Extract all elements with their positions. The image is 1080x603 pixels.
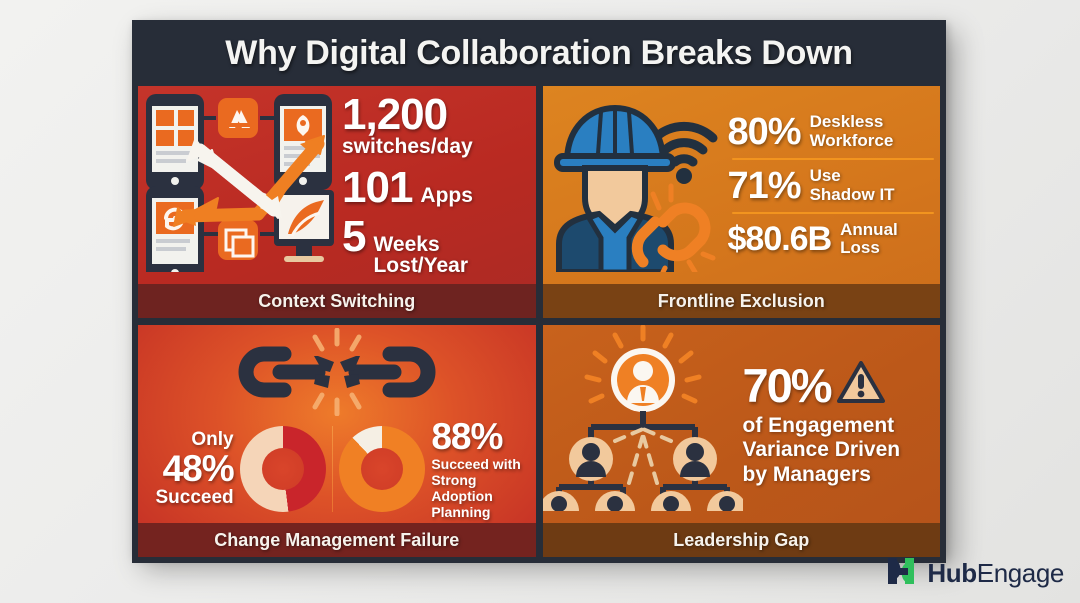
quadrant-body: 80% Deskless Workforce 71% Use Shadow IT… <box>543 86 941 284</box>
donut-prefix: Only <box>138 430 234 450</box>
succeed-donut <box>240 426 326 512</box>
caption-leadership-gap: Leadership Gap <box>543 523 941 557</box>
stat-value-deskless: 80% <box>728 113 801 151</box>
stat-value-switches: 1,200 <box>342 93 536 136</box>
donut-row: Only 48% Succeed 88% Succeed with Strong… <box>138 418 536 520</box>
broken-chain-icon <box>222 328 452 416</box>
page-title: Why Digital Collaboration Breaks Down <box>225 34 852 73</box>
stat-value-weeks: 5 <box>342 215 365 258</box>
brand-logo: HubEngage <box>884 554 1064 593</box>
warning-triangle-icon <box>837 361 885 410</box>
quadrant-body: Only 48% Succeed 88% Succeed with Strong… <box>138 325 536 523</box>
stat-row-shadow-it: 71% Use Shadow IT <box>728 167 935 205</box>
context-switching-stats: 1,200 switches/day 101 Apps 5 Weeks Lost… <box>338 93 536 276</box>
quadrant-context-switching: 1,200 switches/day 101 Apps 5 Weeks Lost… <box>138 86 536 318</box>
quadrant-leadership-gap: 70% of Engagement Variance Driven by Man… <box>543 325 941 557</box>
infographic-card: Why Digital Collaboration Breaks Down <box>132 20 946 557</box>
quadrant-frontline-exclusion: 80% Deskless Workforce 71% Use Shadow IT… <box>543 86 941 318</box>
stat-description-engagement-variance: of Engagement Variance Driven by Manager… <box>743 414 931 488</box>
brand-name: HubEngage <box>927 558 1064 589</box>
card-header: Why Digital Collaboration Breaks Down <box>132 20 946 86</box>
donut-divider <box>332 426 334 512</box>
stat-label-weeks: Weeks Lost/Year <box>373 234 468 277</box>
donut-value-48: 48% <box>138 450 234 488</box>
stat-value-shadow-it: 71% <box>728 167 801 205</box>
strong-adoption-donut <box>339 426 425 512</box>
caption-context-switching: Context Switching <box>138 284 536 318</box>
quadrant-body: 1,200 switches/day 101 Apps 5 Weeks Lost… <box>138 86 536 284</box>
strong-adoption-donut-label: 88% Succeed with Strong Adoption Plannin… <box>431 418 535 520</box>
donut-suffix: Succeed with Strong Adoption Planning <box>431 456 535 520</box>
succeed-donut-label: Only 48% Succeed <box>138 430 234 508</box>
leadership-stats: 70% of Engagement Variance Driven by Man… <box>743 361 941 488</box>
stat-value-annual-loss: $80.6B <box>728 222 832 256</box>
stat-value-apps: 101 <box>342 166 412 209</box>
donut-value-88: 88% <box>431 418 535 456</box>
stat-divider <box>732 158 935 160</box>
caption-frontline-exclusion: Frontline Exclusion <box>543 284 941 318</box>
stat-row-annual-loss: $80.6B Annual Loss <box>728 221 935 258</box>
hubengage-h-logo-icon <box>884 554 918 593</box>
caption-change-management-failure: Change Management Failure <box>138 523 536 557</box>
stat-label-annual-loss: Annual Loss <box>840 221 898 258</box>
frontline-stats: 80% Deskless Workforce 71% Use Shadow IT… <box>728 113 941 258</box>
quadrant-body: 70% of Engagement Variance Driven by Man… <box>543 325 941 523</box>
quadrant-grid: 1,200 switches/day 101 Apps 5 Weeks Lost… <box>132 86 946 563</box>
stat-label-apps: Apps <box>420 185 473 206</box>
hardhat-worker-broken-wifi-icon <box>543 86 728 284</box>
stat-label-deskless: Deskless Workforce <box>810 113 894 150</box>
quadrant-change-management-failure: Only 48% Succeed 88% Succeed with Strong… <box>138 325 536 557</box>
device-app-switching-cluster-icon <box>138 86 338 284</box>
stat-divider <box>732 212 935 214</box>
org-chart-broken-links-icon <box>543 325 743 523</box>
brand-name-bold: Hub <box>927 558 976 588</box>
stat-row-deskless: 80% Deskless Workforce <box>728 113 935 151</box>
stat-label-shadow-it: Use Shadow IT <box>810 167 895 204</box>
stat-label-switches: switches/day <box>342 136 536 157</box>
stat-value-engagement-variance: 70% <box>743 362 831 409</box>
donut-suffix: Succeed <box>138 488 234 508</box>
brand-name-light: Engage <box>977 558 1064 588</box>
